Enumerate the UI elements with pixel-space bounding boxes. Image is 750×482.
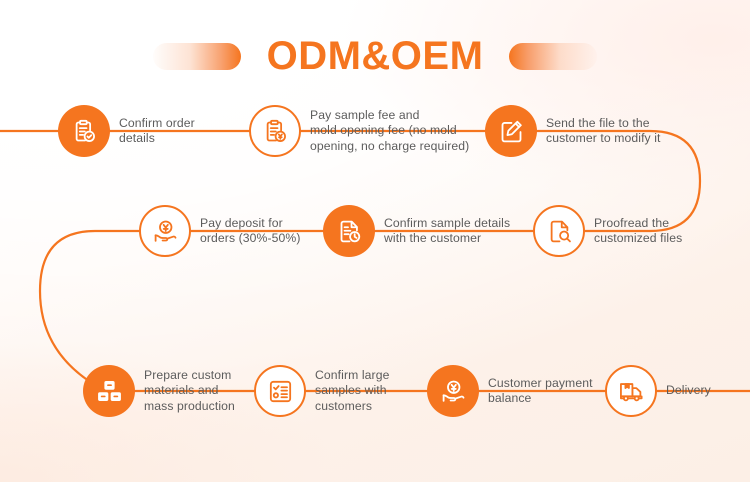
step-node-6[interactable]: Pay deposit for orders (30%-50%)	[139, 205, 301, 257]
step-node-2[interactable]: Pay sample fee and mold opening fee (no …	[249, 105, 469, 157]
step-7-circle[interactable]	[83, 365, 135, 417]
clipboard-check-icon	[71, 118, 98, 145]
step-5-circle[interactable]	[323, 205, 375, 257]
step-node-5[interactable]: Confirm sample details with the customer	[323, 205, 510, 257]
step-node-7[interactable]: Prepare custom materials and mass produc…	[83, 365, 235, 417]
step-10-circle[interactable]	[605, 365, 657, 417]
checklist-icon	[267, 378, 294, 405]
clipboard-currency-icon	[262, 118, 289, 145]
step-9-label: Customer payment balance	[488, 376, 593, 407]
infographic-page: ODM&OEM Confirm order details	[0, 0, 750, 482]
step-4-label: Proofread the customized files	[594, 216, 682, 247]
step-6-circle[interactable]	[139, 205, 191, 257]
step-9-circle[interactable]	[427, 365, 479, 417]
step-10-label: Delivery	[666, 383, 711, 399]
edit-document-icon	[498, 118, 525, 145]
step-node-8[interactable]: Confirm large samples with customers	[254, 365, 389, 417]
step-8-label: Confirm large samples with customers	[315, 368, 389, 415]
hand-currency-icon	[440, 378, 467, 405]
step-node-10[interactable]: Delivery	[605, 365, 711, 417]
step-2-label: Pay sample fee and mold opening fee (no …	[310, 108, 469, 155]
hand-currency-icon	[152, 218, 179, 245]
step-node-1[interactable]: Confirm order details	[58, 105, 195, 157]
step-2-circle[interactable]	[249, 105, 301, 157]
step-node-9[interactable]: Customer payment balance	[427, 365, 593, 417]
step-1-circle[interactable]	[58, 105, 110, 157]
step-5-label: Confirm sample details with the customer	[384, 216, 510, 247]
boxes-stack-icon	[96, 378, 123, 405]
step-1-label: Confirm order details	[119, 116, 195, 147]
step-8-circle[interactable]	[254, 365, 306, 417]
step-6-label: Pay deposit for orders (30%-50%)	[200, 216, 301, 247]
step-4-circle[interactable]	[533, 205, 585, 257]
step-node-3[interactable]: Send the file to the customer to modify …	[485, 105, 661, 157]
step-node-4[interactable]: Proofread the customized files	[533, 205, 682, 257]
step-3-circle[interactable]	[485, 105, 537, 157]
step-3-label: Send the file to the customer to modify …	[546, 116, 661, 147]
delivery-truck-icon	[618, 378, 645, 405]
step-7-label: Prepare custom materials and mass produc…	[144, 368, 235, 415]
document-clock-icon	[336, 218, 363, 245]
document-search-icon	[546, 218, 573, 245]
